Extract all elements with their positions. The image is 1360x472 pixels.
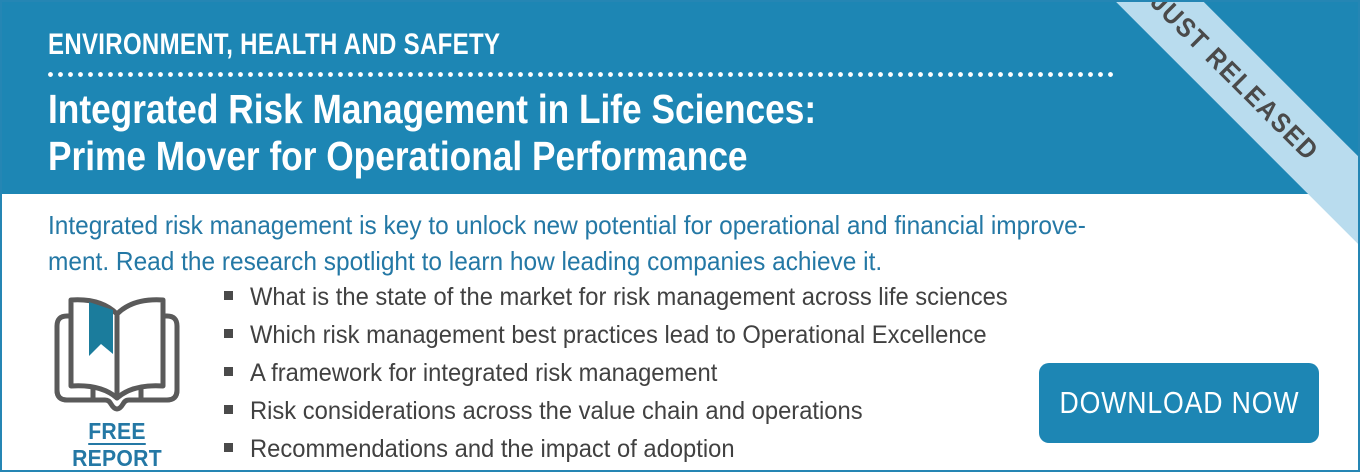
list-item-label: What is the state of the market for risk… [250, 282, 1008, 313]
bullet-square-icon [224, 367, 233, 376]
headline-line-2: Prime Mover for Operational Performance [48, 133, 816, 180]
page-title: Integrated Risk Management in Life Scien… [48, 86, 816, 180]
bullet-square-icon [224, 329, 233, 338]
open-book-icon [49, 288, 185, 412]
promo-banner: ENVIRONMENT, HEALTH AND SAFETY Integrate… [0, 0, 1360, 472]
bullet-square-icon [224, 443, 233, 452]
bullet-square-icon [224, 405, 233, 414]
list-item: Recommendations and the impact of adopti… [224, 434, 1048, 465]
dotted-divider [48, 72, 1118, 77]
intro-paragraph: Integrated risk management is key to unl… [48, 207, 1101, 279]
benefits-list: What is the state of the market for risk… [224, 282, 1048, 472]
intro-line-1: Integrated risk management is key to unl… [48, 207, 1101, 243]
list-item-label: A framework for integrated risk manageme… [250, 358, 717, 389]
download-now-button[interactable]: DOWNLOAD NOW [1039, 363, 1319, 443]
intro-line-2: ment. Read the research spotlight to lea… [48, 243, 1101, 279]
bullet-square-icon [224, 291, 233, 300]
list-item-label: Recommendations and the impact of adopti… [250, 434, 735, 465]
list-item: Which risk management best practices lea… [224, 320, 1048, 351]
headline-line-1: Integrated Risk Management in Life Scien… [48, 86, 816, 133]
list-item-label: Which risk management best practices lea… [250, 320, 987, 351]
list-item: What is the state of the market for risk… [224, 282, 1048, 313]
list-item-label: Risk considerations across the value cha… [250, 396, 863, 427]
free-report-link[interactable]: FREE REPORT [48, 418, 186, 472]
free-report-block[interactable]: FREE REPORT [42, 288, 192, 472]
list-item: Risk considerations across the value cha… [224, 396, 1048, 427]
list-item: A framework for integrated risk manageme… [224, 358, 1048, 389]
eyebrow-category: ENVIRONMENT, HEALTH AND SAFETY [48, 28, 500, 62]
download-now-label: DOWNLOAD NOW [1059, 385, 1299, 421]
